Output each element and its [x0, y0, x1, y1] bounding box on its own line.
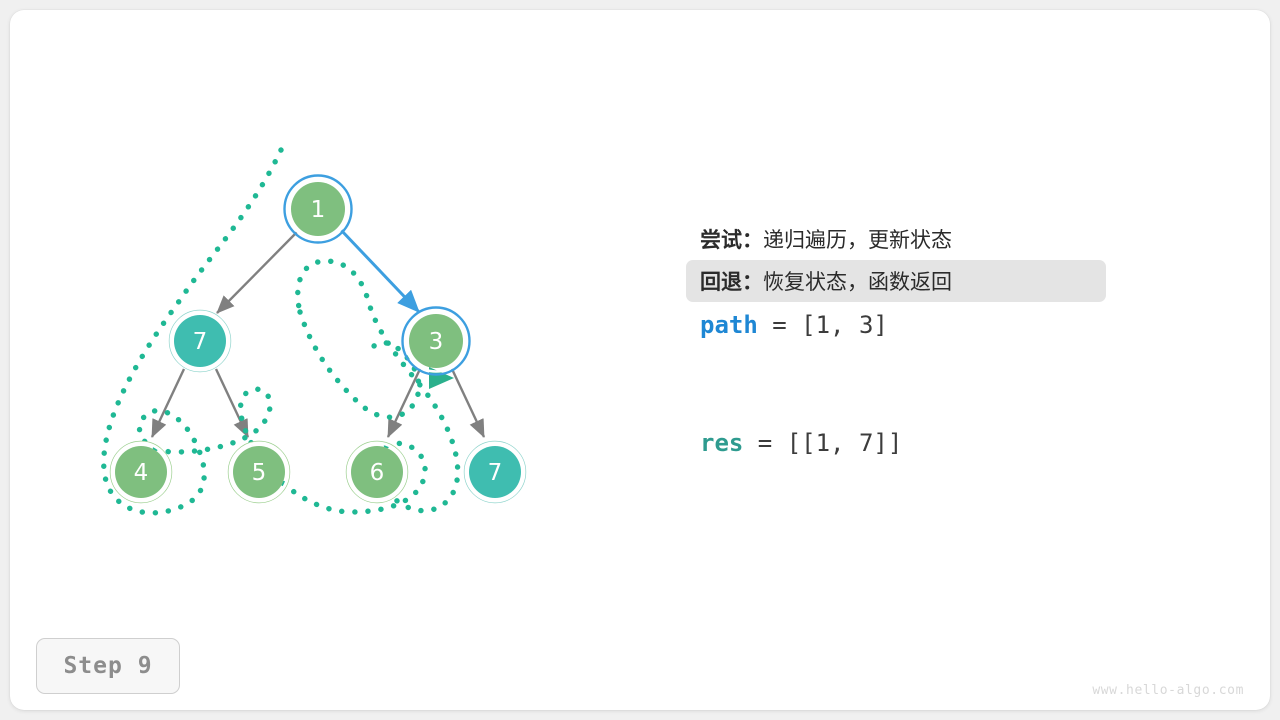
screenshot-canvas: 1 7 3 4	[0, 0, 1280, 720]
node-value: 3	[429, 329, 444, 355]
watermark-text: www.hello-algo.com	[1092, 683, 1244, 698]
node-value: 1	[311, 197, 326, 223]
tree-node-7-left[interactable]: 7	[170, 311, 231, 372]
res-variable-name: res	[700, 429, 743, 457]
edge-3-to-7b	[452, 369, 484, 437]
site-watermark: www.hello-algo.com	[1092, 683, 1244, 698]
tree-node-6[interactable]: 6	[347, 442, 408, 503]
node-value: 5	[252, 460, 267, 486]
legend-panel: 尝试： 递归遍历，更新状态 回退： 恢复状态，函数返回 path = [1, 3…	[686, 218, 1106, 466]
edge-3-to-6	[388, 369, 420, 437]
legend-desc-backtrack: 恢复状态，函数返回	[763, 266, 952, 296]
legend-term-try: 尝试：	[700, 224, 763, 254]
edge-7-to-4	[152, 369, 184, 437]
tree-node-1[interactable]: 1	[285, 176, 352, 243]
node-value: 7	[193, 329, 208, 355]
tree-nodes: 1 7 3 4	[111, 176, 526, 503]
tree-node-3[interactable]: 3	[403, 308, 470, 375]
node-value: 6	[370, 460, 385, 486]
edge-1-to-7	[217, 232, 297, 313]
tree-node-5[interactable]: 5	[229, 442, 290, 503]
path-variable-name: path	[700, 311, 758, 339]
tree-node-7-right[interactable]: 7	[465, 442, 526, 503]
node-value: 7	[488, 460, 503, 486]
legend-desc-try: 递归遍历，更新状态	[763, 224, 952, 254]
panel-spacer	[686, 348, 1106, 420]
legend-row-backtrack: 回退： 恢复状态，函数返回	[686, 260, 1106, 302]
res-variable-value: = [[1, 7]]	[743, 429, 902, 457]
node-value: 4	[134, 460, 149, 486]
legend-row-try: 尝试： 递归遍历，更新状态	[686, 218, 1106, 260]
step-badge: Step 9	[36, 638, 180, 694]
legend-term-backtrack: 回退：	[700, 266, 763, 296]
step-badge-label: Step 9	[63, 653, 152, 679]
tree-node-4[interactable]: 4	[111, 442, 172, 503]
path-variable-value: = [1, 3]	[758, 311, 888, 339]
edge-7-to-5	[216, 369, 248, 437]
res-variable-row: res = [[1, 7]]	[686, 420, 1106, 466]
path-variable-row: path = [1, 3]	[686, 302, 1106, 348]
